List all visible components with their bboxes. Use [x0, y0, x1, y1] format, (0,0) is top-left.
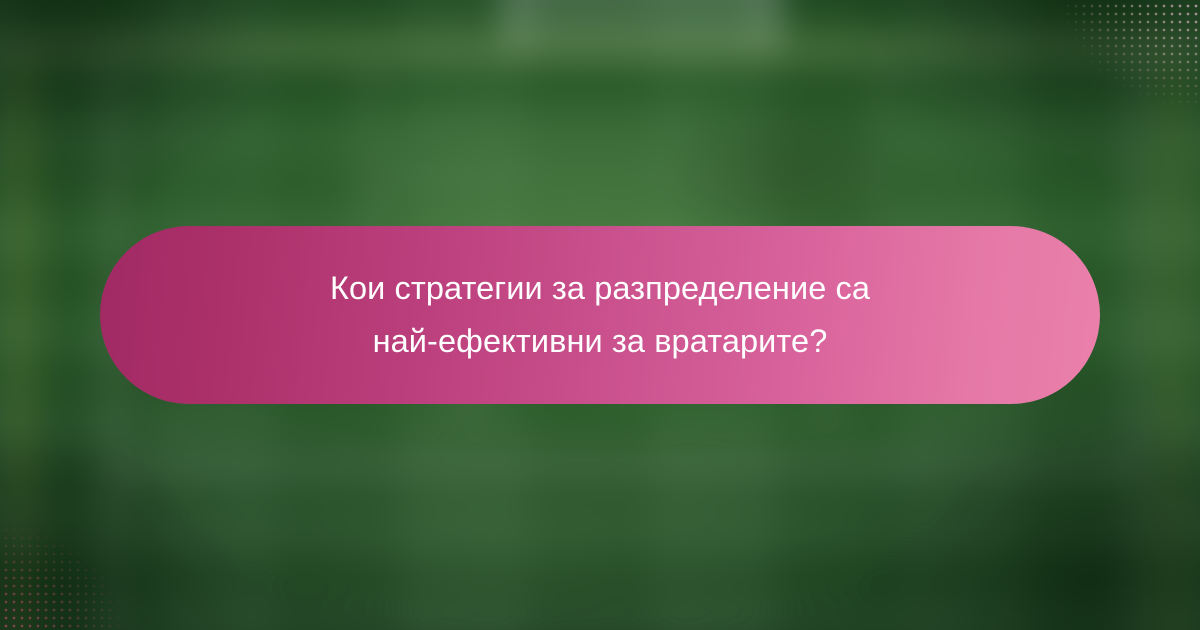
question-text: Кои стратегии за разпределение са най-еф…: [330, 262, 870, 367]
question-banner: Кои стратегии за разпределение са най-еф…: [100, 226, 1100, 404]
question-card: Кои стратегии за разпределение са най-еф…: [0, 0, 1200, 630]
